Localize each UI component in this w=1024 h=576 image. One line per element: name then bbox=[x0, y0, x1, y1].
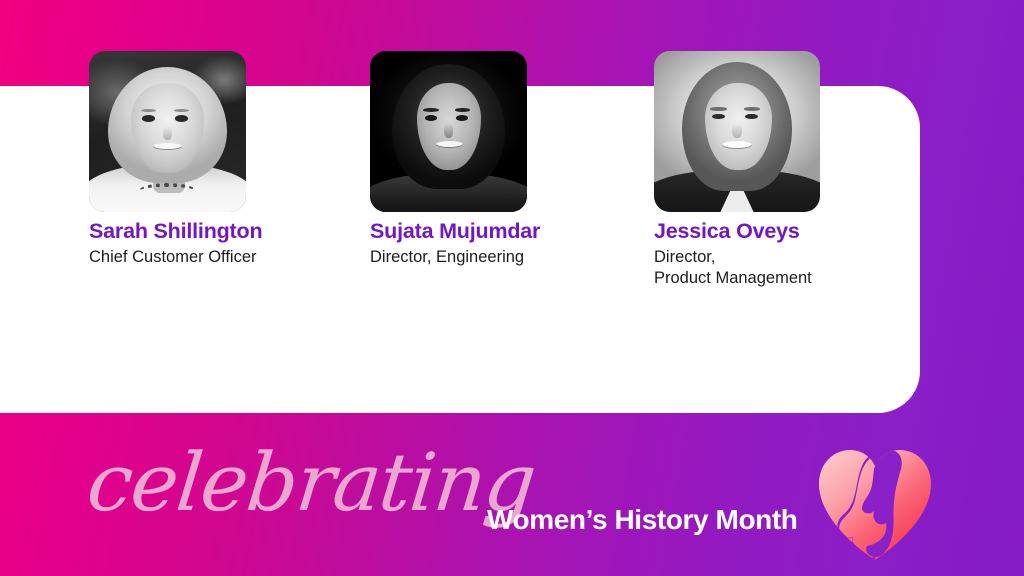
photo-eye-left bbox=[712, 114, 724, 119]
womens-history-month-headline: Women’s History Month bbox=[487, 504, 798, 536]
person-name: Jessica Oveys bbox=[654, 219, 800, 244]
photo-eye-right bbox=[745, 114, 757, 119]
person-title: Director, Product Management bbox=[654, 247, 812, 289]
photo-nose bbox=[444, 123, 453, 137]
photo-brow-left bbox=[710, 107, 727, 111]
photo-necklace bbox=[139, 183, 196, 199]
promo-graphic: Sarah Shillington Chief Customer Officer bbox=[0, 0, 1024, 576]
person-name: Sarah Shillington bbox=[89, 219, 262, 244]
photo-nose bbox=[163, 127, 172, 140]
photo-eye-right bbox=[175, 115, 188, 121]
portrait-jessica-oveys bbox=[654, 51, 820, 212]
person-name: Sujata Mujumdar bbox=[370, 219, 540, 244]
photo-nose bbox=[732, 123, 742, 137]
person-title: Director, Engineering bbox=[370, 247, 524, 268]
person-title: Chief Customer Officer bbox=[89, 247, 257, 268]
photo-brow-left bbox=[423, 108, 439, 112]
portrait-sarah-shillington bbox=[89, 51, 246, 212]
heart-with-woman-profile-logo bbox=[815, 447, 935, 563]
portrait-sujata-mujumdar bbox=[370, 51, 527, 212]
celebrating-script-text: celebrating bbox=[84, 443, 539, 523]
photo-brow-right bbox=[744, 107, 761, 111]
photo-mouth bbox=[153, 143, 181, 150]
photo-eye-left bbox=[425, 115, 437, 121]
photo-eye-left bbox=[142, 115, 155, 121]
